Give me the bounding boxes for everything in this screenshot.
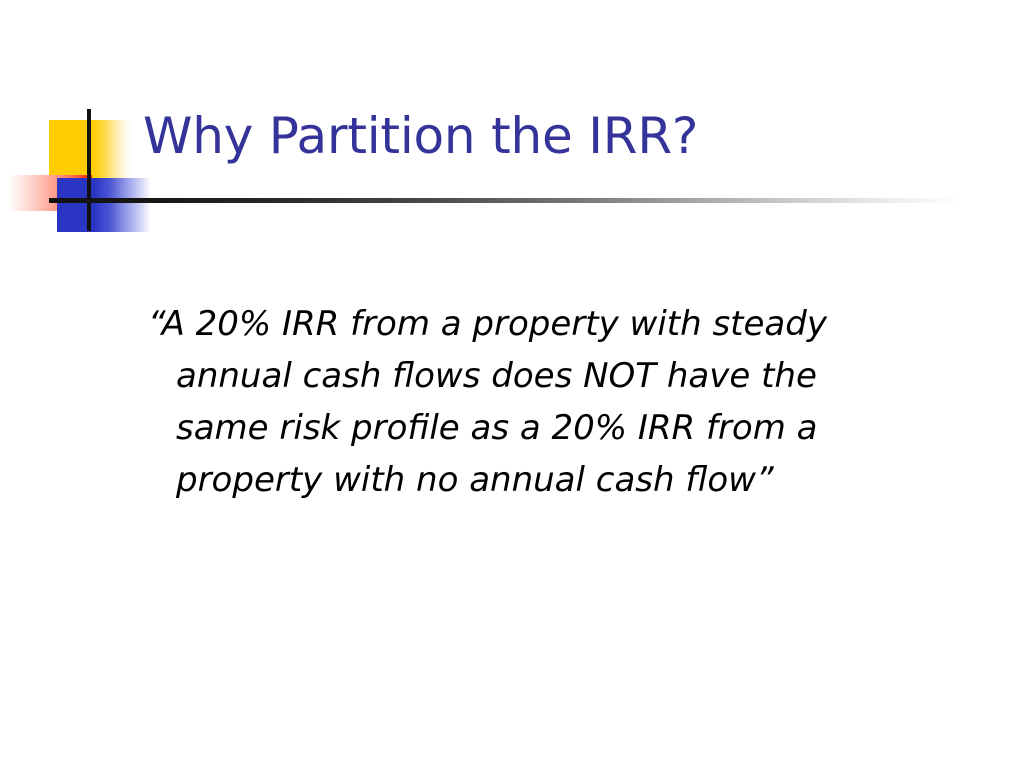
blue-square-icon [57, 178, 151, 232]
vertical-rule-divider [87, 109, 91, 231]
slide-body: “A 20% IRR from a property with steady a… [148, 298, 978, 506]
horizontal-rule-divider [49, 198, 961, 203]
presentation-slide: Why Partition the IRR? “A 20% IRR from a… [0, 0, 1024, 768]
quote-line: same risk profile as a 20% IRR from a [148, 402, 978, 454]
quote-line: property with no annual cash flow” [148, 454, 978, 506]
slide-title: Why Partition the IRR? [143, 111, 903, 161]
quote-line: “A 20% IRR from a property with steady [148, 298, 978, 350]
quote-line: annual cash flows does NOT have the [148, 350, 978, 402]
